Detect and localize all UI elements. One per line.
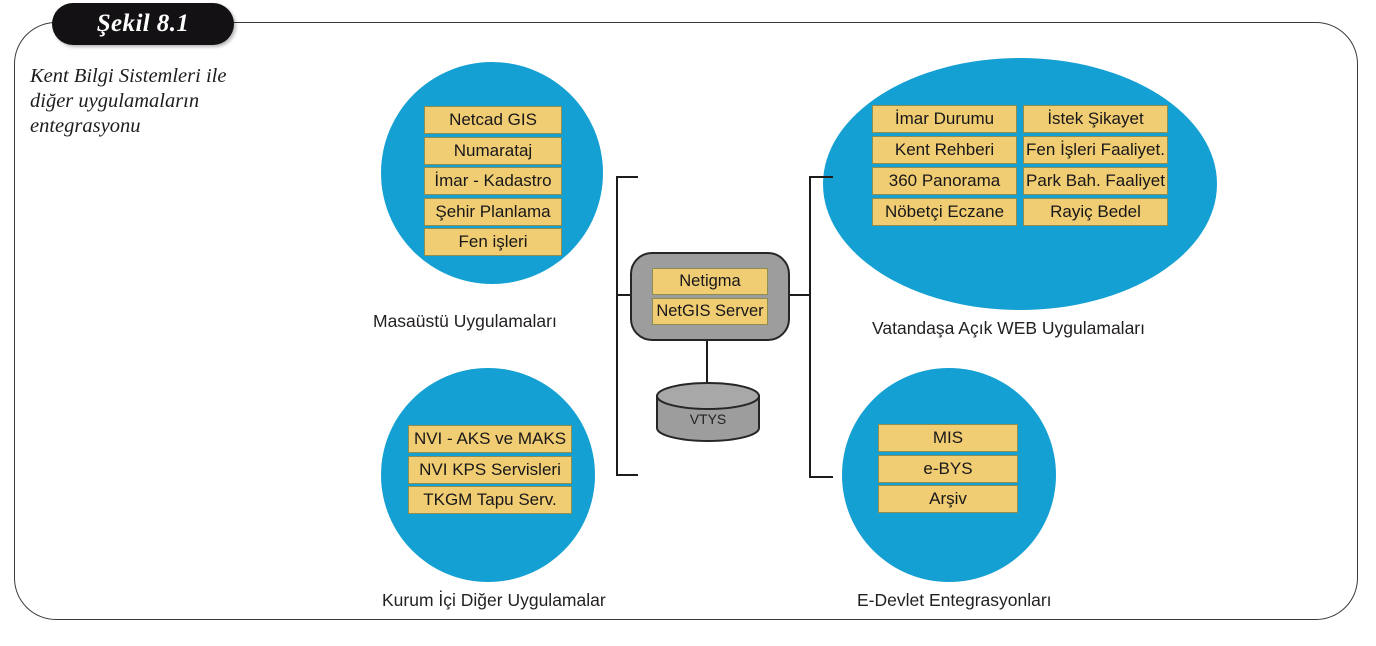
left-bracket-bottom-stub (616, 474, 638, 476)
list-item[interactable]: NVI KPS Servisleri (408, 456, 572, 484)
list-item[interactable]: Şehir Planlama (424, 198, 562, 226)
egov-integrations-list: MIS e-BYS Arşiv (878, 424, 1018, 513)
right-bracket-vertical (809, 176, 811, 478)
server-database-connector (706, 338, 708, 386)
list-item[interactable]: TKGM Tapu Serv. (408, 486, 572, 514)
right-bracket-server-stub (788, 294, 811, 296)
list-item[interactable]: Rayiç Bedel (1023, 198, 1168, 226)
list-item[interactable]: NVI - AKS ve MAKS (408, 425, 572, 453)
list-item[interactable]: e-BYS (878, 455, 1018, 483)
figure-caption: Kent Bilgi Sistemleri ile diğer uygulama… (30, 64, 260, 139)
list-item[interactable]: Numarataj (424, 137, 562, 165)
egov-integrations-caption: E-Devlet Entegrasyonları (857, 590, 1052, 611)
list-item[interactable]: Kent Rehberi (872, 136, 1017, 164)
internal-applications-list: NVI - AKS ve MAKS NVI KPS Servisleri TKG… (408, 425, 572, 514)
server-product-netigma[interactable]: Netigma (652, 268, 768, 295)
server-product-netgis[interactable]: NetGIS Server (652, 298, 768, 325)
list-item[interactable]: Park Bah. Faaliyet (1023, 167, 1168, 195)
list-item[interactable]: İstek Şikayet (1023, 105, 1168, 133)
left-bracket-top-stub (616, 176, 638, 178)
list-item[interactable]: Fen işleri (424, 228, 562, 256)
left-bracket-vertical (616, 176, 618, 476)
figure-number-label: Şekil 8.1 (97, 10, 190, 38)
list-item[interactable]: İmar Durumu (872, 105, 1017, 133)
desktop-applications-list: Netcad GIS Numarataj İmar - Kadastro Şeh… (424, 106, 562, 256)
figure-number-badge: Şekil 8.1 (52, 3, 234, 45)
list-item[interactable]: Netcad GIS (424, 106, 562, 134)
right-bracket-top-stub (809, 176, 833, 178)
list-item[interactable]: Nöbetçi Eczane (872, 198, 1017, 226)
database-cylinder[interactable]: VTYS (655, 382, 761, 442)
list-item[interactable]: 360 Panorama (872, 167, 1017, 195)
database-label: VTYS (655, 411, 761, 427)
right-bracket-bottom-stub (809, 476, 833, 478)
web-applications-caption: Vatandaşa Açık WEB Uygulamaları (872, 318, 1145, 339)
list-item[interactable]: Arşiv (878, 485, 1018, 513)
desktop-applications-caption: Masaüstü Uygulamaları (373, 311, 557, 332)
web-applications-list: İmar Durumu İstek Şikayet Kent Rehberi F… (872, 105, 1168, 226)
netgis-server-node[interactable]: Netigma NetGIS Server (630, 252, 790, 341)
list-item[interactable]: İmar - Kadastro (424, 167, 562, 195)
internal-applications-caption: Kurum İçi Diğer Uygulamalar (382, 590, 606, 611)
list-item[interactable]: Fen İşleri Faaliyet. (1023, 136, 1168, 164)
list-item[interactable]: MIS (878, 424, 1018, 452)
